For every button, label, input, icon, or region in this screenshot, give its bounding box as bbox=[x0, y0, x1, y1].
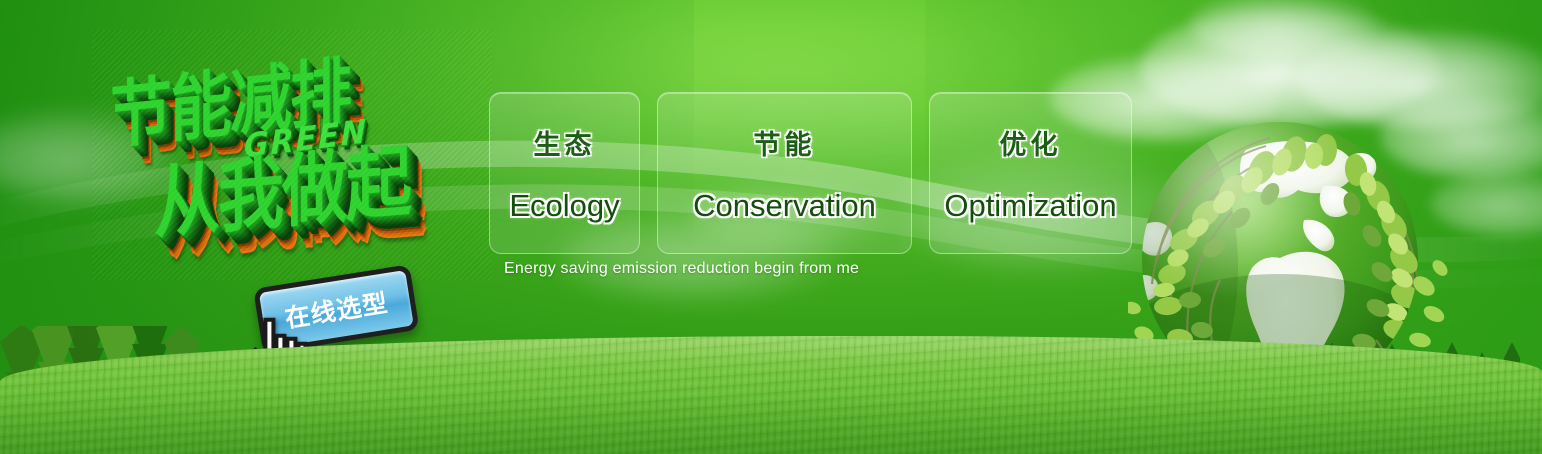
leafy-earth-globe bbox=[1128, 108, 1448, 438]
headline-texture-overlay bbox=[92, 30, 492, 280]
feature-card-conservation[interactable]: 节能 Conservation bbox=[657, 92, 912, 254]
feature-card-en-label: Optimization bbox=[944, 188, 1116, 224]
feature-card-list: 生态 Ecology 节能 Conservation 优化 Optimizati… bbox=[489, 92, 1132, 254]
headline-green-overlay: GREEN bbox=[244, 113, 368, 167]
headline-line-2: 从我做起 bbox=[154, 117, 410, 255]
feature-card-optimization[interactable]: 优化 Optimization bbox=[929, 92, 1132, 254]
feature-card-en-label: Ecology bbox=[509, 188, 619, 224]
feature-card-ecology[interactable]: 生态 Ecology bbox=[489, 92, 640, 254]
headline-line-1: 节能减排 bbox=[110, 31, 350, 162]
cloud-icon bbox=[0, 110, 180, 200]
feature-card-en-label: Conservation bbox=[693, 188, 876, 224]
feature-card-cn-label: 优化 bbox=[1000, 123, 1062, 162]
headline-3d-artwork: 节能减排 GREEN 从我做起 bbox=[92, 30, 492, 280]
hand-pointer-icon bbox=[245, 314, 311, 392]
feature-card-cn-label: 生态 bbox=[534, 123, 596, 162]
feature-card-cn-label: 节能 bbox=[754, 123, 816, 162]
banner-subtitle: Energy saving emission reduction begin f… bbox=[504, 260, 859, 278]
online-selection-cta-wrap[interactable]: 在线选型 bbox=[253, 264, 423, 363]
eco-promo-banner: 节能减排 GREEN 从我做起 在线选型 生态 Ecology 节能 Conse… bbox=[0, 0, 1542, 454]
cloud-icon bbox=[1190, 0, 1380, 60]
